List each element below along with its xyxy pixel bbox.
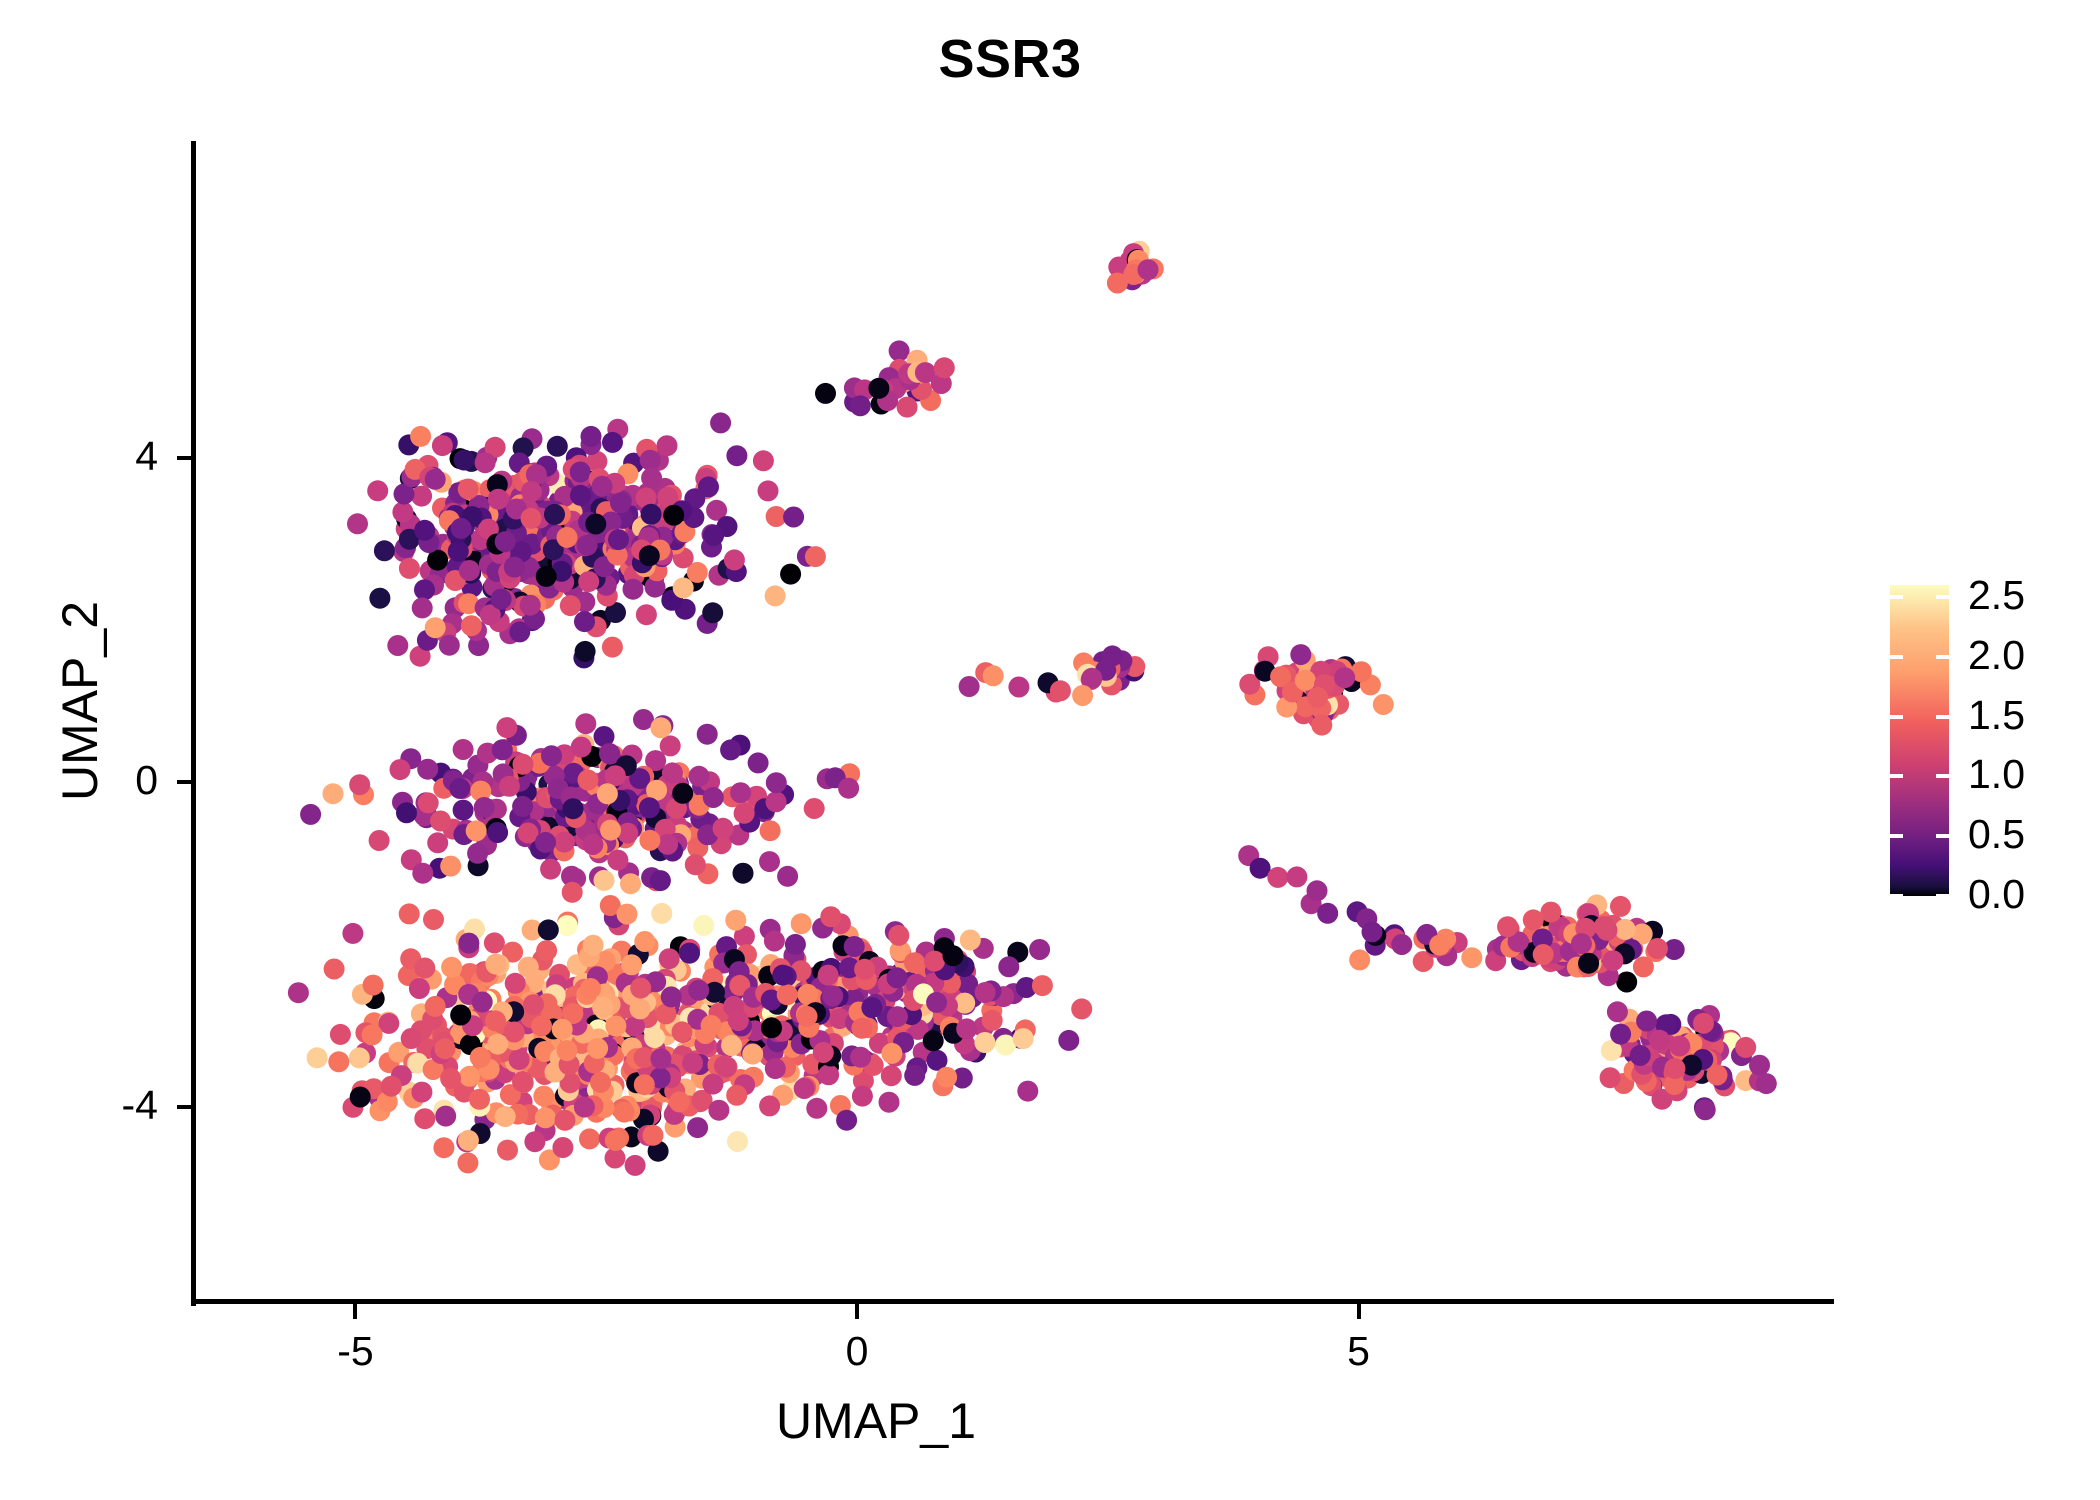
scatter-point [815,383,836,404]
scatter-point [439,635,460,656]
scatter-point [959,676,980,697]
colorbar-tick-label: 2.0 [1968,632,2025,679]
scatter-point [1600,1067,1621,1088]
page-title: SSR3 [0,28,2020,90]
scatter-point [724,549,745,570]
scatter-point [381,1076,402,1097]
scatter-point [785,934,806,955]
scatter-point [594,870,615,891]
scatter-point [868,378,889,399]
scatter-point [491,589,512,610]
scatter-point [583,935,604,956]
y-tick-mark [177,456,191,460]
y-tick-mark [177,780,191,784]
scatter-point [703,787,724,808]
x-axis-title: UMAP_1 [676,1392,1076,1450]
scatter-point [544,504,565,525]
scatter-point [474,797,495,818]
scatter-point [454,450,475,471]
x-tick-mark [855,1304,859,1319]
scatter-point [453,800,474,821]
scatter-point [1349,949,1370,970]
scatter-point [887,967,908,988]
scatter-point [387,635,408,656]
scatter-point [805,546,826,567]
scatter-point [844,936,865,957]
scatter-point [630,978,651,999]
scatter-point [1029,939,1050,960]
scatter-point [620,873,641,894]
scatter-point [472,992,493,1013]
y-axis-line [191,141,196,1306]
scatter-point [1578,953,1599,974]
scatter-point [881,1065,902,1086]
scatter-point [1571,933,1592,954]
scatter-point [433,1137,454,1158]
scatter-point [725,910,746,931]
scatter-point [818,1064,839,1085]
scatter-point [430,811,451,832]
scatter-point [521,508,542,529]
scatter-point [904,952,925,973]
scatter-point [1647,938,1668,959]
scatter-point [307,1047,328,1068]
scatter-point [538,919,559,940]
scatter-point [411,1082,432,1103]
scatter-point [639,545,660,566]
colorbar-tick-mark [1936,595,1949,599]
colorbar-tick-label: 2.5 [1968,572,2025,619]
scatter-point [581,426,602,447]
scatter-point [578,770,599,791]
scatter-point [673,577,694,598]
scatter-point [813,1042,834,1063]
colorbar-tick-mark [1890,774,1903,778]
colorbar-tick-mark [1936,715,1949,719]
scatter-point [1523,909,1544,930]
colorbar-tick-mark [1890,715,1903,719]
scatter-point [693,915,714,936]
scatter-point [423,909,444,930]
scatter-point [1311,715,1332,736]
scatter-point [608,529,629,550]
scatter-point [621,954,642,975]
scatter-point [1693,1013,1714,1034]
colorbar-gradient [1890,585,1949,896]
scatter-point [1594,916,1615,937]
colorbar-tick-mark [1890,894,1903,898]
scatter-point [850,1047,871,1068]
scatter-point [759,1095,780,1116]
scatter-point [451,518,472,539]
scatter-point [998,956,1019,977]
scatter-point [1735,1037,1756,1058]
scatter-point [457,1152,478,1173]
scatter-point [650,870,671,891]
scatter-point [575,713,596,734]
scatter-point [425,996,446,1017]
scatter-point [577,535,598,556]
scatter-point [1533,944,1554,965]
scatter-point [602,637,623,658]
scatter-point [435,1106,456,1127]
scatter-point [563,798,584,819]
scatter-point [708,1100,729,1121]
scatter-point [485,1010,506,1031]
scatter-point [458,1130,479,1151]
scatter-point [742,1044,763,1065]
scatter-point [497,1140,518,1161]
scatter-point [448,541,469,562]
scatter-point [349,1047,370,1068]
scatter-point [323,783,344,804]
scatter-point [634,1074,655,1095]
scatter-point [923,1030,944,1051]
scatter-point [1307,880,1328,901]
scatter-point [682,1053,703,1074]
scatter-point [392,502,413,523]
scatter-point [818,965,839,986]
scatter-point [703,525,724,546]
scatter-point [689,766,710,787]
scatter-point [560,595,581,616]
scatter-point [362,1024,383,1045]
x-tick-label: 0 [797,1328,917,1375]
scatter-point [713,818,734,839]
scatter-point [492,739,513,760]
scatter-point [934,357,955,378]
scatter-point [610,492,631,513]
scatter-point [414,958,435,979]
scatter-point [574,611,595,632]
scatter-point [617,904,638,925]
scatter-point [1630,1045,1651,1066]
scatter-point [399,558,420,579]
colorbar-tick-label: 0.0 [1968,871,2025,918]
scatter-point [960,930,981,951]
scatter-point [794,1078,815,1099]
scatter-point [748,752,769,773]
plot-panel [195,141,1830,1302]
scatter-point [417,759,438,780]
scatter-point [662,762,683,783]
scatter-point [1669,1036,1690,1057]
scatter-point [822,985,843,1006]
scatter-point [850,395,871,416]
scatter-point [440,856,461,877]
scatter-point [851,1018,872,1039]
colorbar-tick-mark [1890,655,1903,659]
scatter-point [777,866,798,887]
scatter-point [669,1091,690,1112]
scatter-point [600,820,621,841]
scatter-point [580,978,601,999]
scatter-point [579,1128,600,1149]
scatter-point [1607,1001,1628,1022]
x-axis-line [191,1299,1834,1304]
scatter-point [554,832,575,853]
scatter-point [643,1125,664,1146]
scatter-point [644,1027,665,1048]
scatter-point [758,480,779,501]
scatter-point [599,743,620,764]
scatter-point [1058,1030,1079,1051]
colorbar-tick-mark [1890,595,1903,599]
scatter-point [414,1108,435,1129]
scatter-point [1633,956,1654,977]
scatter-point [425,617,446,638]
scatter-point [777,984,798,1005]
scatter-point [974,1032,995,1053]
scatter-point [797,1006,818,1027]
scatter-point [765,1058,786,1079]
scatter-point [780,564,801,585]
colorbar-tick-label: 1.5 [1968,692,2025,739]
scatter-point [441,957,462,978]
scatter-point [1138,259,1159,280]
scatter-point [975,982,996,1003]
scatter-point [623,579,644,600]
scatter-point [399,903,420,924]
scatter-point [657,834,678,855]
scatter-point [1649,1030,1670,1051]
x-tick-mark [353,1304,357,1319]
scatter-point [592,997,613,1018]
scatter-point [1295,670,1316,691]
colorbar-tick-label: 0.5 [1968,811,2025,858]
scatter-point [552,1137,573,1158]
scatter-point [300,804,321,825]
scatter-point [459,1066,480,1087]
scatter-point [585,514,606,535]
scatter-point [888,925,909,946]
scatter-point [1391,934,1412,955]
scatter-point [450,1005,471,1026]
scatter-point [1071,998,1092,1019]
scatter-point [495,1106,516,1127]
scatter-point [716,1057,737,1078]
scatter-point [475,452,496,473]
scatter-point [639,830,660,851]
scatter-point [485,954,506,975]
scatter-point [634,931,655,952]
scatter-point [687,1117,708,1138]
scatter-point [435,1038,456,1059]
scatter-point [590,1072,611,1093]
scatter-point [926,992,947,1013]
scatter-point [625,1155,646,1176]
scatter-point [597,783,618,804]
scatter-point [764,931,785,952]
scatter-point [570,462,591,483]
scatter-point [759,851,780,872]
scatter-point [418,792,439,813]
scatter-point [582,834,603,855]
scatter-point [766,772,787,793]
scatter-point [605,1016,626,1037]
scatter-point [1008,677,1029,698]
y-tick-label: 4 [68,433,158,480]
scatter-point [347,513,368,534]
scatter-point [570,485,591,506]
scatter-point [728,1010,749,1031]
scatter-point [504,557,525,578]
scatter-point [512,1071,533,1092]
scatter-point [409,978,430,999]
scatter-point [535,832,556,853]
scatter-point [541,745,562,766]
scatter-point [1017,1081,1038,1102]
scatter-point [1317,903,1338,924]
scatter-point [639,797,660,818]
scatter-point [578,571,599,592]
scatter-point [461,615,482,636]
scatter-point [512,796,533,817]
scatter-point [410,426,431,447]
scatter-point [679,943,700,964]
scatter-point [487,1034,508,1055]
scatter-point [414,520,435,541]
colorbar-tick-mark [1936,894,1949,898]
scatter-point [721,1035,742,1056]
scatter-point [1072,685,1093,706]
scatter-point [557,527,578,548]
scatter-point [806,1098,827,1119]
scatter-point [547,436,568,457]
scatter-point [672,783,693,804]
scatter-point [1250,858,1271,879]
scatter-point [536,940,557,961]
scatter-point [765,585,786,606]
scatter-point [458,479,479,500]
scatter-point [897,397,918,418]
scatter-point [753,450,774,471]
scatter-point [659,948,680,969]
scatter-point [726,445,747,466]
scatter-point [1050,680,1071,701]
scatter-point [838,778,859,799]
scatter-point [607,850,628,871]
scatter-point [469,1089,490,1110]
y-axis-title: UMAP_2 [51,501,109,901]
scatter-point [484,932,505,953]
scatter-point [881,1043,902,1064]
scatter-point [562,882,583,903]
scatter-point [641,468,662,489]
scatter-point [887,1006,908,1027]
scatter-point [1429,935,1450,956]
scatter-point [369,588,390,609]
scatter-point [734,803,755,824]
scatter-point [1497,916,1518,937]
scatter-point [733,863,754,884]
scatter-point [1461,947,1482,968]
scatter-point [791,913,812,934]
scatter-point [1290,644,1311,665]
scatter-point [453,739,474,760]
scatter-point [650,717,671,738]
scatter-point [587,1038,608,1059]
scatter-point [523,994,544,1015]
scatter-point [518,957,539,978]
scatter-point [425,469,446,490]
umap-feature-plot: SSR3 40-4-505 UMAP_1 UMAP_2 2.52.01.51.0… [0,0,2100,1500]
colorbar-legend: 2.52.01.51.00.50.0 [1890,585,2090,915]
scatter-point [449,778,470,799]
scatter-point [1032,975,1053,996]
scatter-point [540,859,561,880]
scatter-point [1373,694,1394,715]
colorbar-tick-mark [1936,834,1949,838]
scatter-point [592,476,613,497]
scatter-point [761,1017,782,1038]
scatter-point [363,975,384,996]
scatter-point [1664,1058,1685,1079]
scatter-point [956,1018,977,1039]
scatter-point [720,739,741,760]
scatter-point [499,776,520,797]
scatter-point [836,1110,857,1131]
scatter-point [488,489,509,510]
scatter-point [520,595,541,616]
scatter-point [641,504,662,525]
scatter-point [983,665,1004,686]
scatter-point [552,1019,573,1040]
scatter-point [1610,1024,1631,1045]
scatter-point [663,505,684,526]
scatter-point [1695,1099,1716,1120]
scatter-point [661,986,682,1007]
scatter-point [820,906,841,927]
scatter-point [350,1087,371,1108]
scatter-point [574,1097,595,1118]
scatter-point [650,1048,671,1069]
scatter-point [1756,1073,1777,1094]
scatter-point [701,1015,722,1036]
x-tick-label: 5 [1299,1328,1419,1375]
scatter-point [688,980,709,1001]
scatter-point [889,340,910,361]
scatter-point [982,1010,1003,1031]
colorbar-tick-mark [1936,655,1949,659]
scatter-point [1267,867,1288,888]
scatter-point [521,481,542,502]
y-tick-mark [177,1105,191,1109]
scatter-point [605,1130,626,1151]
scatter-point [1707,1065,1728,1086]
scatter-point [1616,972,1637,993]
scatter-point [943,945,964,966]
scatter-point [697,724,718,745]
scatter-point [466,820,487,841]
scatter-point [533,1086,554,1107]
scatter-point [1615,919,1636,940]
scatter-point [1749,1055,1770,1076]
scatter-point [367,480,388,501]
scatter-point [727,1131,748,1152]
scatter-point [702,1074,723,1095]
scatter-point [614,1102,635,1123]
scatter-point [854,959,875,980]
x-tick-label: -5 [295,1328,415,1375]
scatter-point [657,435,678,456]
scatter-point [904,1065,925,1086]
scatter-point [524,1131,545,1152]
scatter-point [602,432,623,453]
scatter-point [505,973,526,994]
scatter-point [396,802,417,823]
scatter-point [1286,866,1307,887]
